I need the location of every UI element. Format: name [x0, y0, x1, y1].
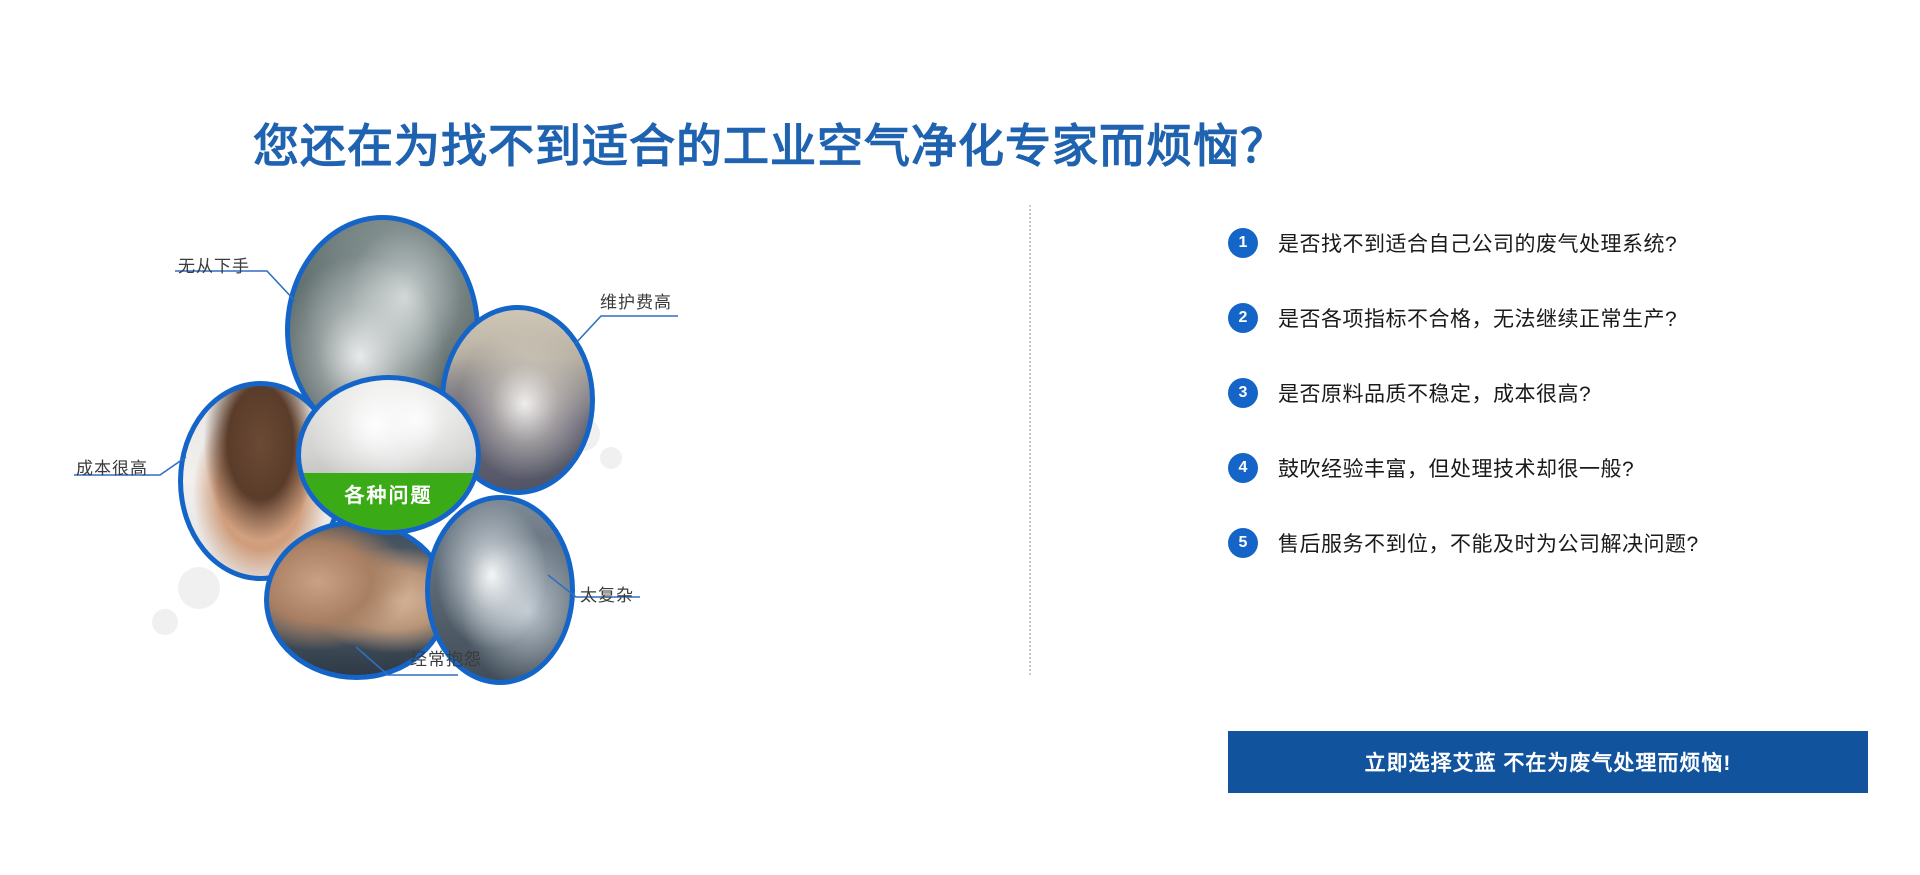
decorative-dot	[178, 567, 220, 609]
decorative-dot	[600, 447, 622, 469]
list-item-label: 是否各项指标不合格，无法继续正常生产?	[1278, 303, 1677, 333]
decorative-dot	[152, 609, 178, 635]
list-item-label: 是否找不到适合自己公司的废气处理系统?	[1278, 228, 1677, 258]
list-item[interactable]: 3 是否原料品质不稳定，成本很高?	[1228, 355, 1868, 430]
pain-point-list: 1 是否找不到适合自己公司的废气处理系统? 2 是否各项指标不合格，无法继续正常…	[1228, 205, 1868, 580]
list-number-badge: 1	[1228, 228, 1258, 258]
list-item[interactable]: 1 是否找不到适合自己公司的废气处理系统?	[1228, 205, 1868, 280]
diagram-label-too-complex: 太复杂	[580, 581, 634, 606]
diagram-label-high-maintenance-fee: 维护费高	[600, 288, 672, 313]
diagram-label-no-starting-point: 无从下手	[178, 252, 250, 277]
list-item[interactable]: 5 售后服务不到位，不能及时为公司解决问题?	[1228, 505, 1868, 580]
list-number-badge: 5	[1228, 528, 1258, 558]
list-item[interactable]: 2 是否各项指标不合格，无法继续正常生产?	[1228, 280, 1868, 355]
promo-banner: 您还在为找不到适合的工业空气净化专家而烦恼？ 各种问题	[0, 0, 1920, 875]
cta-button[interactable]: 立即选择艾蓝 不在为废气处理而烦恼!	[1228, 731, 1868, 793]
leader-line-high-maintenance-fee	[553, 310, 683, 356]
list-item-label: 鼓吹经验丰富，但处理技术却很一般?	[1278, 453, 1634, 483]
list-item-label: 售后服务不到位，不能及时为公司解决问题?	[1278, 528, 1699, 558]
list-item-label: 是否原料品质不稳定，成本很高?	[1278, 378, 1591, 408]
list-number-badge: 4	[1228, 453, 1258, 483]
diagram-label-high-cost: 成本很高	[76, 454, 148, 479]
page-title: 您还在为找不到适合的工业空气净化专家而烦恼？	[0, 119, 1540, 174]
diagram-label-frequent-complaints: 经常抱怨	[410, 645, 482, 670]
list-number-badge: 2	[1228, 303, 1258, 333]
center-caption: 各种问题	[301, 473, 476, 530]
list-number-badge: 3	[1228, 378, 1258, 408]
vertical-divider	[1029, 205, 1031, 675]
problem-diagram: 各种问题 无从下手	[0, 195, 1010, 695]
list-item[interactable]: 4 鼓吹经验丰富，但处理技术却很一般?	[1228, 430, 1868, 505]
bubble-photo-center-stacks: 各种问题	[296, 375, 481, 535]
